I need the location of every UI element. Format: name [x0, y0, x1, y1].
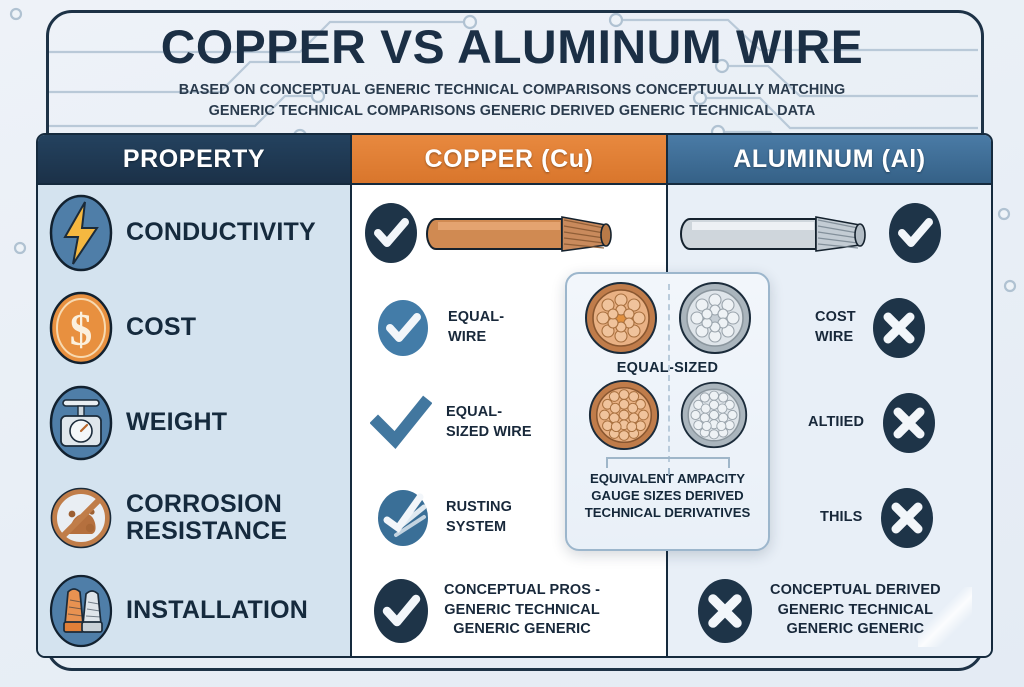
table-row: INSTALLATION CONCEPTUAL PROS - GENERIC T…	[38, 563, 991, 654]
check-icon	[374, 297, 432, 359]
copper-note: RUSTING SYSTEM	[446, 498, 512, 537]
aluminum-note-line-2: WIRE	[815, 328, 856, 348]
property-label: CORROSION RESISTANCE	[126, 491, 287, 545]
aluminum-note: ALTIIED	[808, 413, 864, 433]
table-row: CONDUCTIVITY	[38, 183, 991, 278]
check-icon	[370, 394, 432, 452]
copper-cell	[350, 185, 668, 280]
copper-wire-image	[424, 203, 624, 263]
aluminum-note: COST WIRE	[815, 308, 856, 347]
overlay-bracket	[606, 457, 730, 468]
copper-note-line-2: SYSTEM	[446, 518, 512, 538]
aluminum-cross-section-bottom	[679, 380, 749, 450]
overlay-caption: EQUIVALENT AMPACITY GAUGE SIZES DERIVED …	[585, 471, 751, 522]
property-label: WEIGHT	[126, 409, 227, 436]
property-cell: CORROSION RESISTANCE	[38, 470, 350, 565]
aluminum-note-line-1: CONCEPTUAL DERIVED	[770, 581, 941, 601]
copper-note-line-2: WIRE	[448, 328, 504, 348]
column-header-property: PROPERTY	[38, 135, 350, 183]
x-icon	[870, 295, 928, 361]
check-icon	[370, 576, 432, 646]
property-cell: WEIGHT	[38, 375, 350, 470]
aluminum-cell	[668, 185, 991, 280]
x-icon	[878, 485, 936, 551]
aluminum-cell: CONCEPTUAL DERIVED GENERIC TECHNICAL GEN…	[668, 565, 991, 656]
page-subtitle: BASED ON CONCEPTUAL GENERIC TECHNICAL CO…	[0, 80, 1024, 122]
copper-note: EQUAL- WIRE	[448, 308, 504, 347]
table-header-row: PROPERTY COPPER (Cu) ALUMINUM (Al)	[38, 135, 991, 183]
copper-note-line-2: GENERIC TECHNICAL	[444, 601, 600, 621]
aluminum-note-line-3: GENERIC GENERIC	[770, 620, 941, 640]
property-label-line-2: RESISTANCE	[126, 517, 287, 545]
no-rust-icon	[48, 478, 114, 558]
overlay-caption-line-3: TECHNICAL DERIVATIVES	[585, 505, 751, 522]
copper-note-line-2: SIZED WIRE	[446, 423, 532, 443]
copper-note-line-3: GENERIC GENERIC	[444, 620, 600, 640]
table-row: WEIGHT EQUAL- SIZED WIRE ALTIIED	[38, 373, 991, 468]
comparison-table: PROPERTY COPPER (Cu) ALUMINUM (Al) CONDU…	[36, 133, 993, 658]
column-header-aluminum: ALUMINUM (Al)	[668, 135, 991, 183]
aluminum-note-line-2: GENERIC TECHNICAL	[770, 601, 941, 621]
property-label-line-1: CORROSION	[126, 490, 282, 518]
property-cell: INSTALLATION	[38, 565, 350, 656]
aluminum-note-line-1: COST	[815, 308, 856, 328]
copper-note-line-1: RUSTING	[446, 498, 512, 518]
dollar-coin-icon: $	[48, 289, 114, 367]
property-label: COST	[126, 314, 196, 341]
property-cell: $ COST	[38, 280, 350, 375]
aluminum-note: THILS	[820, 508, 862, 528]
x-icon	[880, 390, 938, 456]
copper-cross-section-top	[583, 280, 659, 356]
aluminum-cross-section-top	[677, 280, 753, 356]
x-icon	[694, 576, 756, 646]
copper-cross-section-bottom	[587, 378, 661, 452]
kitchen-scale-icon	[48, 383, 114, 463]
copper-note-line-1: CONCEPTUAL PROS -	[444, 581, 600, 601]
property-cell: CONDUCTIVITY	[38, 185, 350, 280]
check-icon	[374, 487, 432, 549]
table-row: $ COST EQUAL- WIRE COST WIRE	[38, 278, 991, 373]
subtitle-line-1: BASED ON CONCEPTUAL GENERIC TECHNICAL CO…	[0, 80, 1024, 101]
aluminum-note-line-1: THILS	[820, 508, 862, 528]
overlay-divider	[668, 284, 670, 462]
copper-note-line-1: EQUAL-	[448, 308, 504, 328]
aluminum-note: CONCEPTUAL DERIVED GENERIC TECHNICAL GEN…	[770, 581, 941, 640]
subtitle-line-2: GENERIC TECHNICAL COMPARISONS GENERIC DE…	[0, 101, 1024, 122]
copper-note: CONCEPTUAL PROS - GENERIC TECHNICAL GENE…	[444, 581, 600, 640]
table-row: CORROSION RESISTANCE RUSTING SYSTEM	[38, 468, 991, 563]
check-icon	[362, 200, 420, 266]
check-icon	[886, 200, 944, 266]
page-title: COPPER VS ALUMINUM WIRE	[0, 22, 1024, 71]
infographic-canvas: COPPER VS ALUMINUM WIRE BASED ON CONCEPT…	[0, 0, 1024, 687]
equal-sized-overlay-card: EQUAL-SIZED	[565, 272, 770, 551]
copper-note: EQUAL- SIZED WIRE	[446, 403, 532, 442]
property-label: CONDUCTIVITY	[126, 219, 316, 246]
overlay-caption-line-2: GAUGE SIZES DERIVED	[585, 488, 751, 505]
aluminum-note-line-1: ALTIIED	[808, 413, 864, 433]
column-header-copper: COPPER (Cu)	[350, 135, 668, 183]
copper-note-line-1: EQUAL-	[446, 403, 532, 423]
lightning-bolt-icon	[48, 192, 114, 274]
copper-cell: CONCEPTUAL PROS - GENERIC TECHNICAL GENE…	[350, 565, 668, 656]
wire-nuts-icon	[48, 572, 114, 650]
svg-text:$: $	[70, 305, 93, 355]
aluminum-wire-image	[678, 203, 878, 263]
header: COPPER VS ALUMINUM WIRE BASED ON CONCEPT…	[0, 22, 1024, 122]
property-label: INSTALLATION	[126, 597, 308, 624]
